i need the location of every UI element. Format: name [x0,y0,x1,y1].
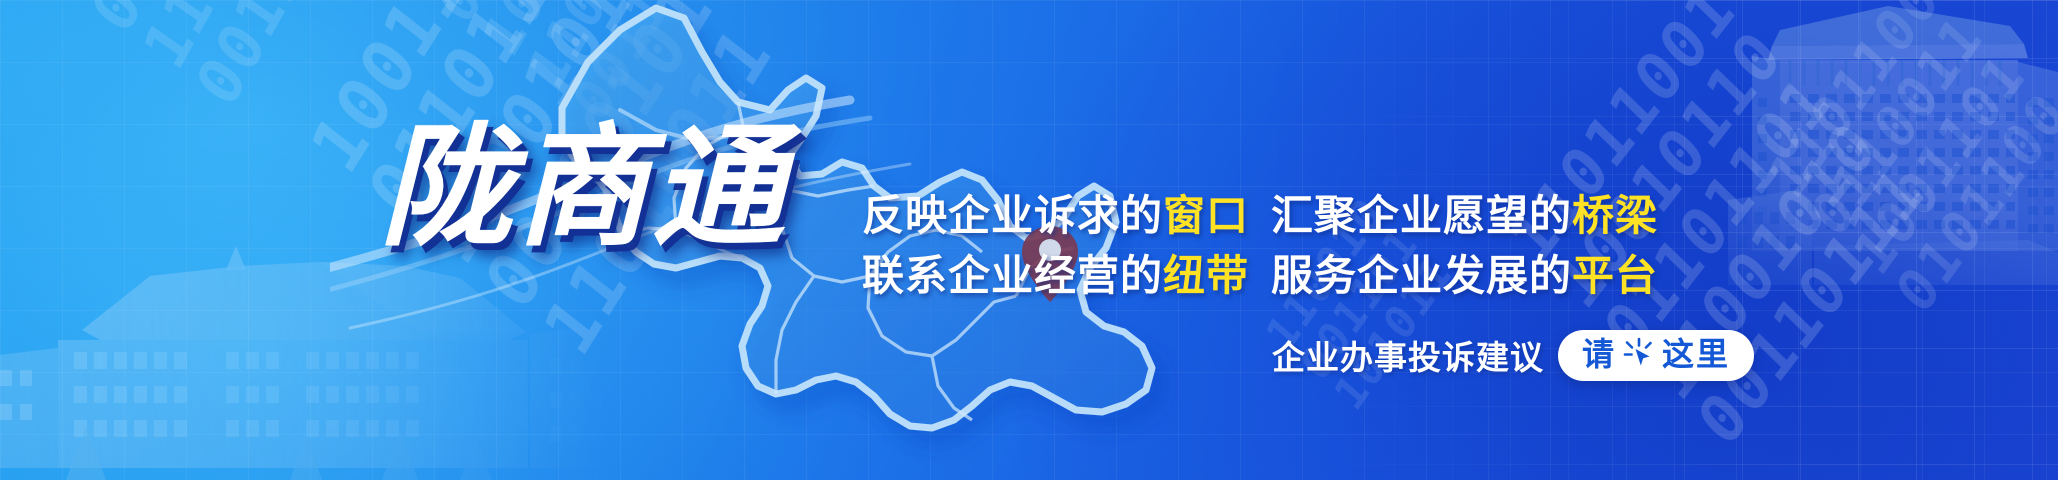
binary-digits-texture: 1001011 0110010 1100101 0011011 [30,0,372,116]
page-title: 陇商通 [380,122,788,254]
slogan-line-1: 反映企业诉求的窗口汇聚企业愿望的桥梁 [862,186,1662,246]
cta-pill-prefix: 请 [1582,336,1616,373]
slogan-1-plain-2: 汇聚企业愿望的 [1271,192,1572,239]
cta-pill-suffix: 这里 [1662,336,1730,373]
office-tower-photo [1728,0,2058,285]
slogan-1-plain-1: 反映企业诉求的 [862,192,1163,239]
click-cursor-icon [1622,337,1656,371]
slogan-1-highlight-2: 桥梁 [1572,192,1658,239]
binary-digits-texture: 010110 101001 110010 001101 [430,0,713,130]
government-building-photo [0,230,610,480]
slogan-2-highlight-2: 平台 [1572,252,1658,299]
slogan-line-2: 联系企业经营的纽带服务企业发展的平台 [862,246,1662,306]
cta-block: 企业办事投诉建议 请 这里 [1272,330,1754,381]
slogan-2-plain-2: 服务企业发展的 [1271,252,1572,299]
click-here-button[interactable]: 请 这里 [1558,330,1754,381]
cta-label: 企业办事投诉建议 [1272,331,1544,379]
banner-root: 1001011 0110010 1100101 0011011 10011001… [0,0,2058,480]
slogan-2-highlight-1: 纽带 [1163,252,1249,299]
slogan-1-highlight-1: 窗口 [1163,192,1249,239]
slogan-block: 反映企业诉求的窗口汇聚企业愿望的桥梁 联系企业经营的纽带服务企业发展的平台 [862,186,1662,306]
binary-digits-texture: 1101100 0110011 1001101 0101100 [1760,0,2058,324]
slogan-2-plain-1: 联系企业经营的 [862,252,1163,299]
